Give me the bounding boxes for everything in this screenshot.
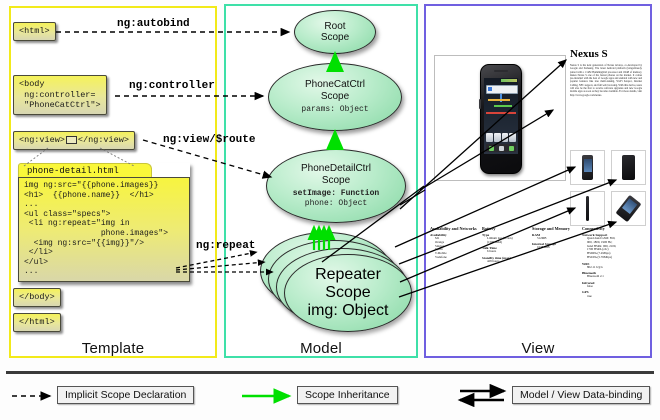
scope-phonecatctrl-line2: Scope <box>321 91 349 102</box>
phone-search-widget <box>486 85 518 94</box>
thumbnail-4[interactable] <box>611 191 646 226</box>
note-filename: phone-detail.html <box>18 163 152 177</box>
scope-repeater-title: Repeater Scope <box>315 266 381 302</box>
code-tag-body: <body ng:controller= "PhoneCatCtrl"> <box>13 75 107 115</box>
view-page: Nexus S Nexus S is the next generation o… <box>430 10 646 352</box>
edge-label-autobind: ng:autobind <box>117 18 190 30</box>
legend-databind-arrows <box>460 391 504 400</box>
phone-hero-image-frame <box>434 55 566 181</box>
spec-column-connectivity: Connectivity Network Support Quad-band G… <box>582 226 644 299</box>
spec-value: true <box>582 295 644 299</box>
legend-implicit-scope-declaration: Implicit Scope Declaration <box>57 386 194 404</box>
spec-value: 6 hours <box>482 250 530 254</box>
thumb-screen <box>584 159 592 172</box>
thumb-phone-side <box>586 196 589 221</box>
edge-label-route: ng:view/$route <box>163 134 255 146</box>
legend-scope-inheritance: Scope Inheritance <box>297 386 398 404</box>
prop-setimage: setImage: Function <box>293 189 379 198</box>
scope-phonecatctrl-title: PhoneCatCtrl Scope <box>305 79 365 102</box>
ngview-close-label: </ng:view> <box>78 135 129 145</box>
app-icon-3 <box>502 133 509 142</box>
scope-repeater-stack: Repeater Scope img: Object <box>260 232 412 334</box>
template-partial-note: phone-detail.html img ng:src="{{phone.im… <box>18 163 190 282</box>
phone-app-dock <box>486 133 516 142</box>
thumb-phone-angled <box>616 195 642 222</box>
thumbnail-2[interactable] <box>611 150 646 185</box>
scope-phonecatctrl: PhoneCatCtrl Scope params: Object <box>268 63 402 131</box>
thumbnail-1[interactable] <box>570 150 605 185</box>
legend-model-view-databinding: Model / View Data-binding <box>512 386 650 404</box>
scope-root-line1: Root <box>324 21 345 32</box>
scope-phonecatctrl-line1: PhoneCatCtrl <box>305 79 365 90</box>
ngview-open-label: <ng:view> <box>19 135 65 145</box>
code-tag-html: <html> <box>13 22 56 41</box>
spec-value: HSUPA (5.76Mbps) <box>582 256 644 260</box>
code-tag-ngview: <ng:view></ng:view> <box>13 131 135 150</box>
spec-value: Bluetooth 2.1 <box>582 275 644 279</box>
spec-value: 16384MB <box>532 246 580 250</box>
phone-screen <box>484 78 518 154</box>
scope-repeater-line2: Scope <box>325 284 370 301</box>
scope-phonecatctrl-props: params: Object <box>301 105 368 115</box>
phone-wallpaper-line-2 <box>494 105 512 107</box>
app-icon-2 <box>494 133 501 142</box>
phone-statusbar <box>501 79 517 82</box>
phone-side-button <box>479 99 481 109</box>
spec-column-storage: Storage and Memory RAM 512MB Internal St… <box>532 226 580 250</box>
spec-column-battery: Battery Type Lithium Ion (Li-Ion) (1500 … <box>482 226 530 264</box>
thumb-phone-front <box>582 155 593 180</box>
panel-label-view: View <box>424 340 652 357</box>
spec-value: 512MB <box>532 237 580 241</box>
spec-value: Vodafone <box>430 256 480 260</box>
phone-wallpaper-line-3 <box>486 112 516 114</box>
panel-label-model: Model <box>224 340 418 357</box>
scope-repeater-props: img: Object <box>308 302 389 320</box>
thumb-screen-angled <box>622 198 637 214</box>
spec-value: 802.11 b/g/n <box>582 266 644 270</box>
browser-icon <box>509 146 514 151</box>
spec-value: false <box>582 285 644 289</box>
scope-phonedetailctrl-title: PhoneDetailCtrl Scope <box>301 163 371 186</box>
thumbnail-3[interactable] <box>570 191 605 226</box>
scope-phonedetailctrl-props: setImage: Function phone: Object <box>293 189 379 209</box>
scope-root-line2: Scope <box>321 32 349 43</box>
app-icon-1 <box>486 133 493 142</box>
panel-label-template: Template <box>9 340 217 357</box>
diagram-canvas: <html> <body ng:controller= "PhoneCatCtr… <box>0 0 660 420</box>
spec-header: Connectivity <box>582 226 644 231</box>
legend-divider <box>6 371 654 374</box>
scope-root: Root Scope <box>294 10 376 54</box>
spec-header: Battery <box>482 226 530 231</box>
note-code: img ng:src="{{phone.images}} <h1> {{phon… <box>18 177 190 282</box>
scope-repeater: Repeater Scope img: Object <box>284 254 412 332</box>
spec-column-availability: Availability and Networks Availability M… <box>430 226 480 260</box>
scope-phonedetailctrl-line1: PhoneDetailCtrl <box>301 163 371 174</box>
thumb-phone-back <box>622 155 635 180</box>
code-tag-body-close: </body> <box>13 288 61 307</box>
phone-device-illustration <box>480 64 522 174</box>
spec-header: Storage and Memory <box>532 226 580 231</box>
app-icon-4 <box>509 133 516 142</box>
edge-label-repeat: ng:repeat <box>196 240 255 252</box>
spec-header: Availability and Networks <box>430 226 480 231</box>
apps-grid-icon <box>499 146 504 151</box>
scope-root-title: Root Scope <box>321 21 349 44</box>
phone-icon <box>489 146 494 151</box>
spec-value: (1500 mAh) <box>482 241 530 245</box>
phone-speaker <box>494 70 508 72</box>
view-product-description: Nexus S is the next generation of Nexus … <box>570 64 642 97</box>
prop-phone: phone: Object <box>305 199 367 208</box>
code-tag-html-close: </html> <box>13 313 61 332</box>
edge-label-controller: ng:controller <box>129 80 215 92</box>
ngview-slot-icon <box>66 136 77 144</box>
search-icon <box>488 87 492 91</box>
phone-navbar <box>486 144 516 152</box>
spec-value: 428 hours <box>482 260 530 264</box>
phone-wallpaper-line-1 <box>488 99 510 101</box>
scope-phonedetailctrl: PhoneDetailCtrl Scope setImage: Function… <box>266 149 406 223</box>
scope-repeater-line1: Repeater <box>315 266 381 283</box>
view-product-title: Nexus S <box>570 48 608 60</box>
scope-phonedetailctrl-line2: Scope <box>322 175 350 186</box>
